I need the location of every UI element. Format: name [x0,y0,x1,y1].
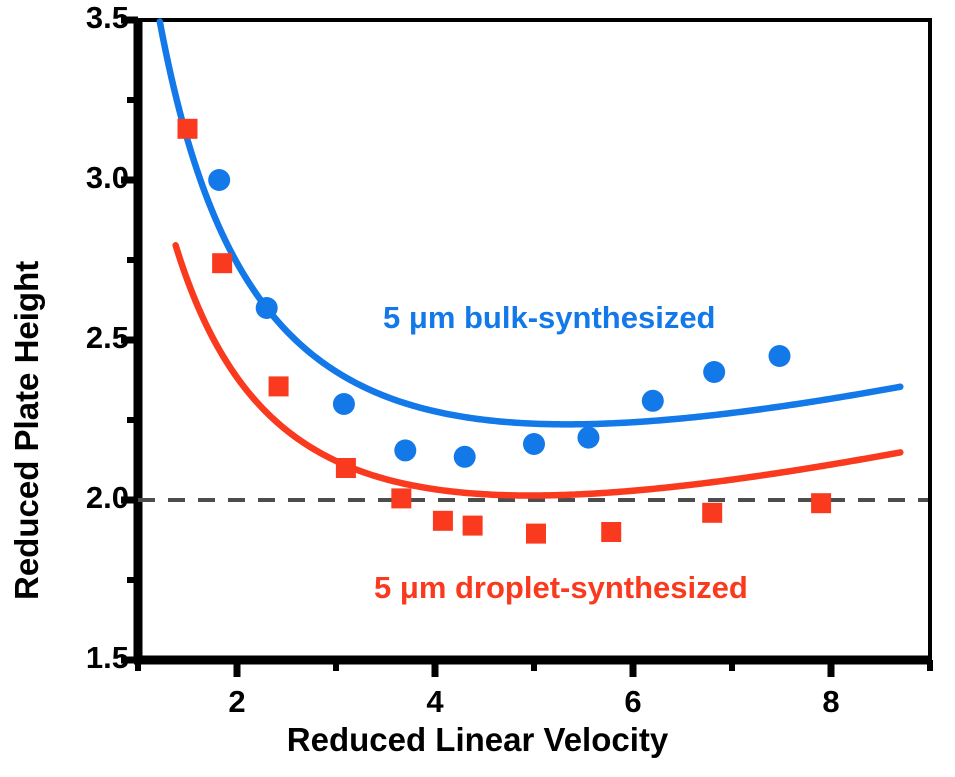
plot-canvas [0,0,955,777]
x-tick-label: 8 [801,684,861,720]
y-tick-label: 1.5 [47,640,129,676]
x-tick-label: 4 [405,684,465,720]
chart-figure: Reduced Linear Velocity Reduced Plate He… [0,0,955,777]
x-tick-label: 6 [603,684,663,720]
plot-frame [134,20,930,660]
y-axis-title: Reduced Plate Height [8,261,46,600]
y-tick-label: 2.5 [47,320,129,356]
x-tick-label: 2 [207,684,267,720]
fit-curves [160,22,901,496]
series-label-bulk-synthesized: 5 μm bulk-synthesized [383,300,716,336]
y-tick-label: 2.0 [47,480,129,516]
x-axis-title: Reduced Linear Velocity [0,721,955,759]
y-tick-label: 3.0 [47,160,129,196]
series-label-droplet-synthesized: 5 μm droplet-synthesized [374,570,748,606]
y-tick-label: 3.5 [47,0,129,36]
